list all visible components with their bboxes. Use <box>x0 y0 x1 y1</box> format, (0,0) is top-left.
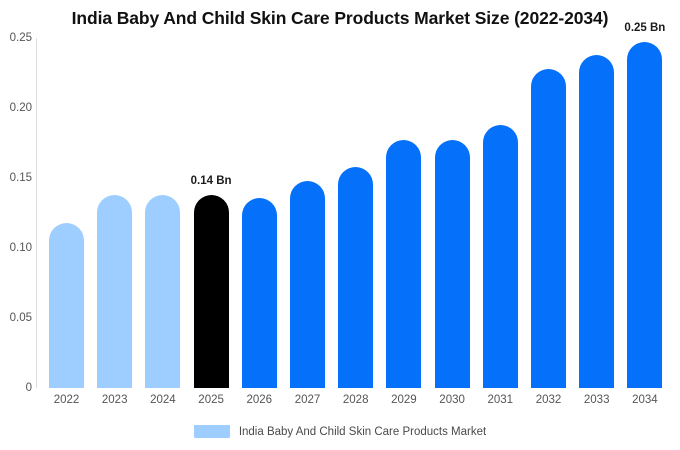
bar-column[interactable] <box>386 38 421 388</box>
y-tick-label: 0.25 <box>0 32 32 44</box>
bar-column[interactable] <box>97 38 132 388</box>
bar-column[interactable] <box>435 38 470 388</box>
bar-data-label: 0.25 Bn <box>585 22 680 34</box>
bar[interactable] <box>145 195 180 388</box>
bar[interactable] <box>386 140 421 388</box>
y-tick-label: 0.10 <box>0 242 32 254</box>
plot-area: 00.050.100.150.200.25 202220232024202520… <box>36 38 680 388</box>
bar-column[interactable] <box>579 38 614 388</box>
bar-column[interactable] <box>242 38 277 388</box>
bar-column[interactable] <box>338 38 373 388</box>
bar-column[interactable] <box>145 38 180 388</box>
bar-column[interactable] <box>49 38 84 388</box>
bar[interactable] <box>290 181 325 388</box>
chart-legend: India Baby And Child Skin Care Products … <box>0 425 680 438</box>
bar-column[interactable] <box>531 38 566 388</box>
bar-column[interactable] <box>290 38 325 388</box>
bar-column[interactable] <box>483 38 518 388</box>
bar-column[interactable] <box>194 38 229 388</box>
bar[interactable] <box>194 195 229 388</box>
bar[interactable] <box>242 198 277 388</box>
bar-column[interactable] <box>627 38 662 388</box>
legend-item[interactable]: India Baby And Child Skin Care Products … <box>194 425 486 438</box>
bar[interactable] <box>627 42 662 388</box>
bar[interactable] <box>49 223 84 388</box>
y-tick-label: 0.20 <box>0 102 32 114</box>
bar[interactable] <box>435 140 470 388</box>
bar[interactable] <box>483 125 518 388</box>
legend-label: India Baby And Child Skin Care Products … <box>239 426 486 438</box>
bar[interactable] <box>579 55 614 388</box>
legend-swatch <box>194 425 230 438</box>
y-tick-label: 0.15 <box>0 172 32 184</box>
chart-title: India Baby And Child Skin Care Products … <box>0 8 680 29</box>
y-tick-label: 0.05 <box>0 312 32 324</box>
y-tick-label: 0 <box>0 382 32 394</box>
bar[interactable] <box>338 167 373 388</box>
x-tick-label: 2034 <box>615 394 675 406</box>
y-axis-line <box>36 38 37 388</box>
bar[interactable] <box>97 195 132 388</box>
bar-chart: India Baby And Child Skin Care Products … <box>0 0 680 450</box>
bar-data-label: 0.14 Bn <box>151 175 271 187</box>
bar[interactable] <box>531 69 566 388</box>
